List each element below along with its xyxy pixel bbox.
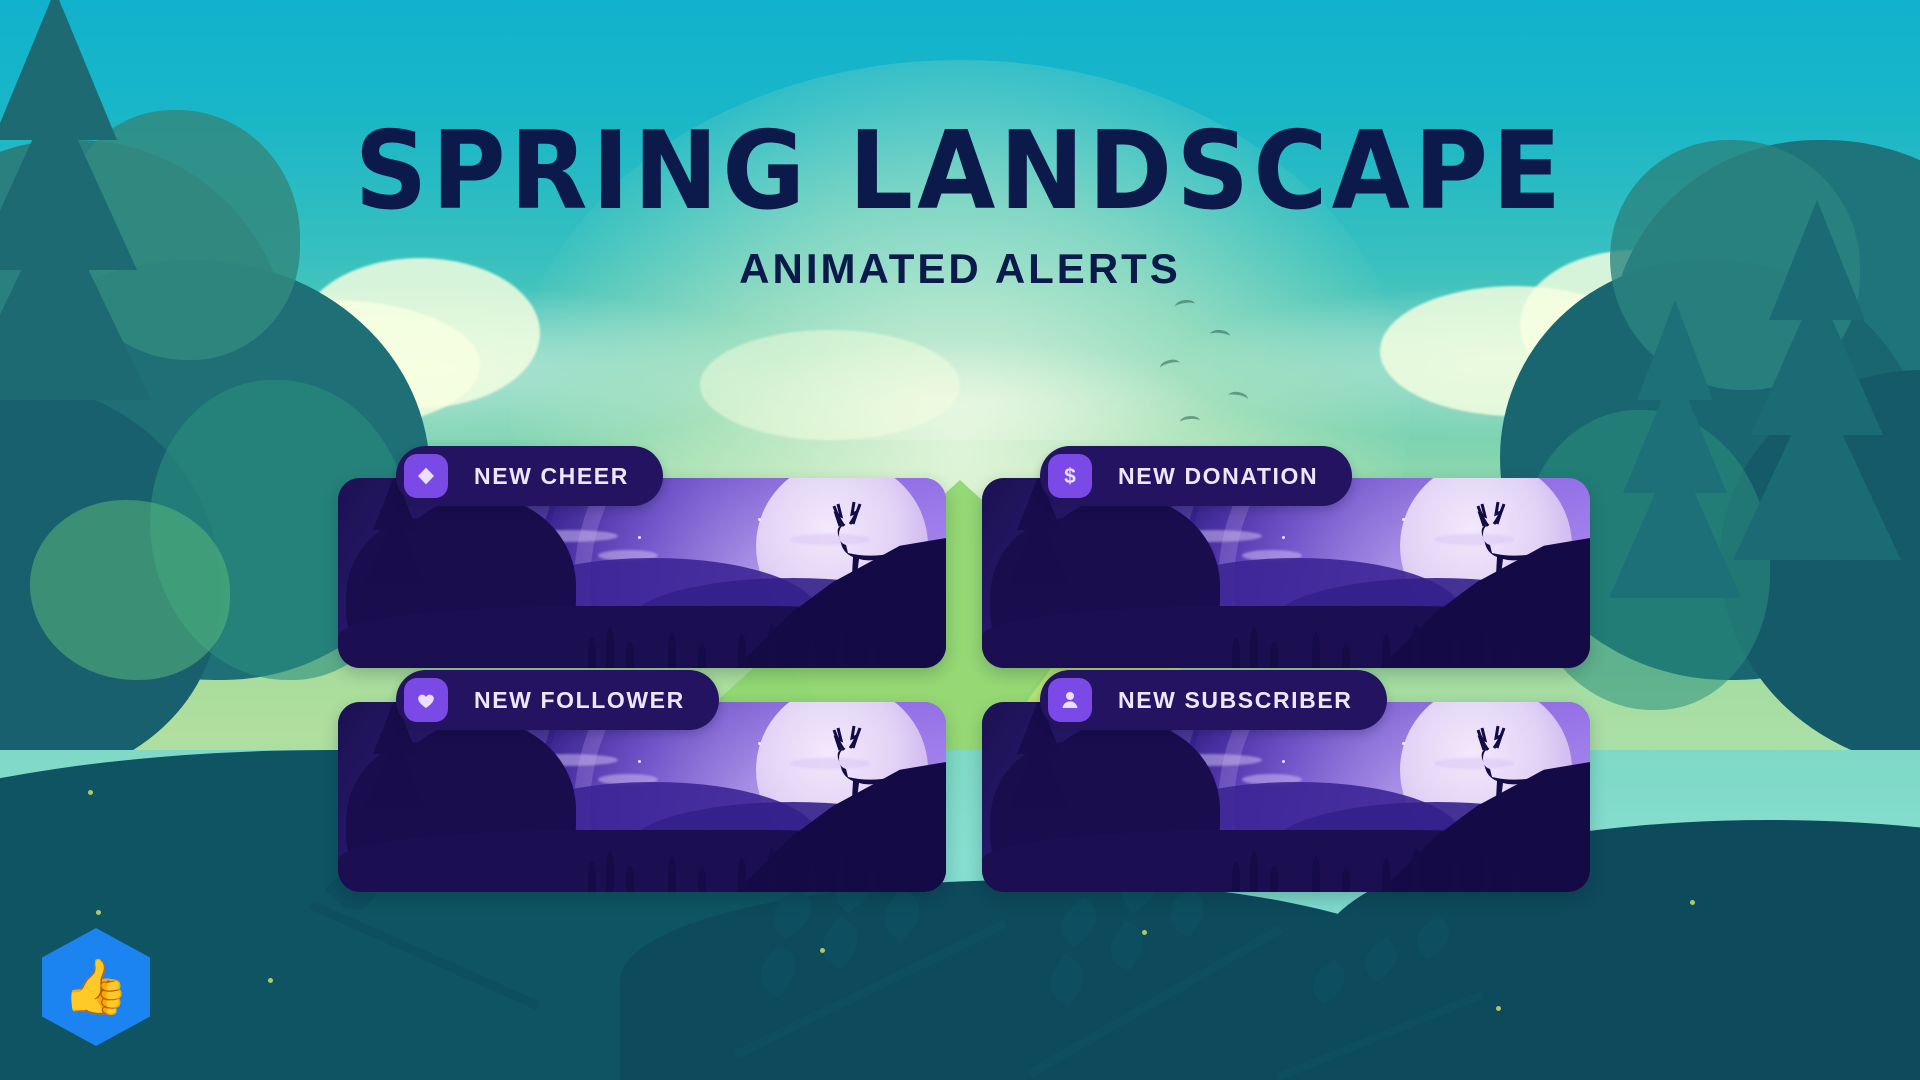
alert-badge-label: NEW DONATION — [1118, 463, 1318, 490]
heart-icon — [404, 678, 448, 722]
alert-preview-art — [982, 478, 1590, 668]
alert-card-follower[interactable]: NEW FOLLOWER — [338, 702, 946, 892]
gem-icon — [404, 454, 448, 498]
alert-card-subscriber[interactable]: NEW SUBSCRIBER — [982, 702, 1590, 892]
alert-preview-art — [982, 702, 1590, 892]
thumbs-up-icon: 👍 — [62, 960, 129, 1014]
page-title: SPRING LANDSCAPE — [0, 118, 1920, 226]
alert-badge-subscriber[interactable]: NEW SUBSCRIBER — [1040, 670, 1387, 730]
deer-icon — [1452, 724, 1560, 828]
deer-icon — [808, 724, 916, 828]
page-subtitle: ANIMATED ALERTS — [0, 248, 1920, 290]
deer-icon — [1452, 500, 1560, 604]
preview-canvas: SPRING LANDSCAPE ANIMATED ALERTS — [0, 0, 1920, 1080]
header-block: SPRING LANDSCAPE ANIMATED ALERTS — [0, 118, 1920, 290]
alert-badge-donation[interactable]: $ NEW DONATION — [1040, 446, 1352, 506]
alert-badge-label: NEW SUBSCRIBER — [1118, 687, 1353, 714]
alert-badge-label: NEW CHEER — [474, 463, 629, 490]
alert-grid: NEW CHEER — [338, 478, 1588, 892]
alert-badge-label: NEW FOLLOWER — [474, 687, 685, 714]
deer-icon — [808, 500, 916, 604]
person-icon — [1048, 678, 1092, 722]
dollar-icon: $ — [1048, 454, 1092, 498]
pine-tree-right-small — [1610, 300, 1740, 600]
alert-card-cheer[interactable]: NEW CHEER — [338, 478, 946, 668]
alert-badge-cheer[interactable]: NEW CHEER — [396, 446, 663, 506]
thumbs-up-logo[interactable]: 👍 — [42, 928, 150, 1046]
svg-text:$: $ — [1064, 465, 1076, 488]
alert-badge-follower[interactable]: NEW FOLLOWER — [396, 670, 719, 730]
alert-card-donation[interactable]: $ NEW DONATION — [982, 478, 1590, 668]
alert-preview-art — [338, 478, 946, 668]
alert-preview-art — [338, 702, 946, 892]
